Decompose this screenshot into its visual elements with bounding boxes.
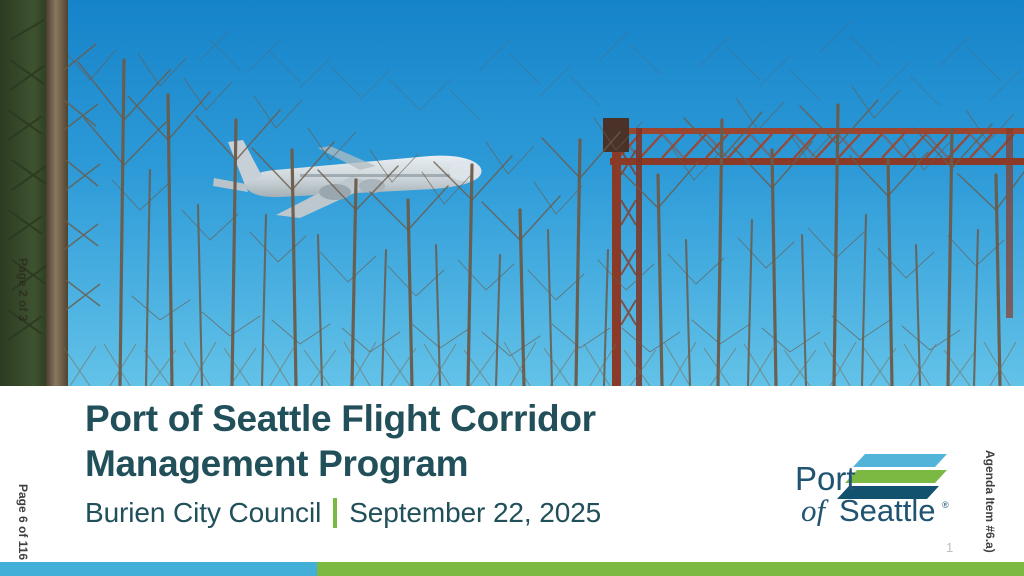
page-title: Port of Seattle Flight Corridor Manageme… [85, 396, 785, 486]
agenda-item-stamp: Agenda Item #6.a) [983, 450, 997, 553]
logo-wordmark-line1: Port [795, 460, 856, 497]
logo-wordmark-line3: Seattle [839, 493, 936, 526]
presentation-slide: Port of Seattle Flight Corridor Manageme… [0, 0, 1024, 576]
hero-photo [0, 0, 1024, 386]
registered-trademark-icon: ® [942, 500, 949, 510]
title-block: Port of Seattle Flight Corridor Manageme… [85, 396, 785, 529]
slide-number: 1 [946, 540, 953, 555]
page-stamp-over-photo: Page 2 of 3 [16, 258, 30, 321]
bottom-accent-bar [0, 562, 1024, 576]
port-of-seattle-logo: Port of Seattle ® [795, 448, 950, 526]
accent-bar-right-segment [317, 562, 1024, 576]
subtitle-audience: Burien City Council [85, 497, 321, 529]
accent-bar-left-segment [0, 562, 317, 576]
subtitle-divider [333, 498, 337, 528]
page-stamp-bottom-left: Page 6 of 116 [16, 484, 30, 560]
subtitle-date: September 22, 2025 [349, 497, 601, 529]
subtitle-row: Burien City Council September 22, 2025 [85, 497, 785, 529]
logo-wordmark-line2: of [801, 493, 830, 526]
